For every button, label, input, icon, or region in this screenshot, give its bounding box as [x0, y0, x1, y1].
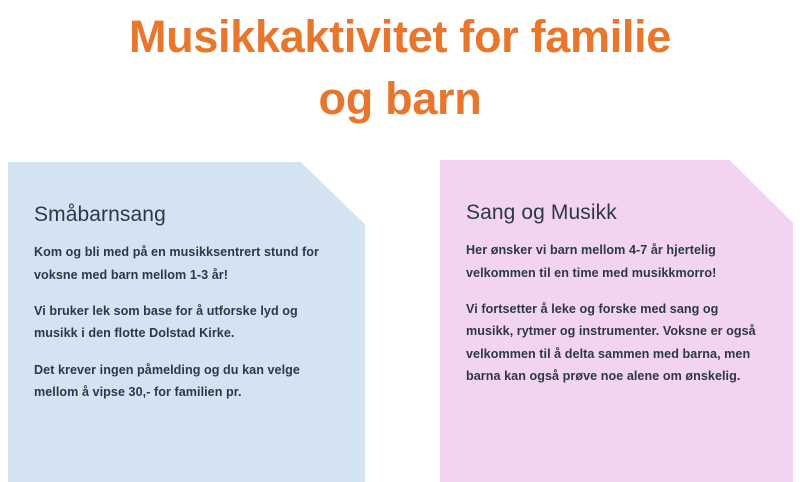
- card-smabarnsang: Småbarnsang Kom og bli med på en musikks…: [8, 162, 365, 482]
- cards-area: Småbarnsang Kom og bli med på en musikks…: [0, 0, 800, 448]
- card-paragraph: Kom og bli med på en musikksentrert stun…: [34, 241, 339, 286]
- card-heading-sang-og-musikk: Sang og Musikk: [466, 200, 767, 225]
- card-body-sang-og-musikk: Her ønsker vi barn mellom 4-7 år hjertel…: [466, 239, 767, 387]
- card-heading-smabarnsang: Småbarnsang: [34, 202, 339, 227]
- card-paragraph: Her ønsker vi barn mellom 4-7 år hjertel…: [466, 239, 767, 284]
- card-paragraph: Vi fortsetter å leke og forske med sang …: [466, 298, 767, 388]
- card-paragraph: Vi bruker lek som base for å utforske ly…: [34, 300, 339, 345]
- card-paragraph: Det krever ingen påmelding og du kan vel…: [34, 359, 339, 404]
- card-body-smabarnsang: Kom og bli med på en musikksentrert stun…: [34, 241, 339, 403]
- card-sang-og-musikk: Sang og Musikk Her ønsker vi barn mellom…: [440, 160, 793, 482]
